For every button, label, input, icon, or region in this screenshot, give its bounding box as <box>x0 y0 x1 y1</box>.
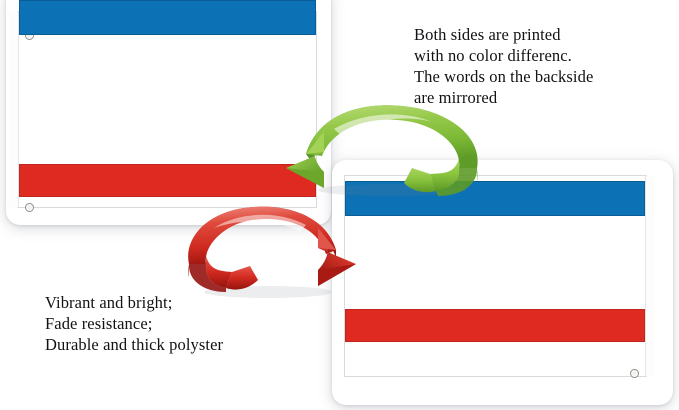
flag-back-hoist-band <box>645 176 655 376</box>
flag-front-card <box>6 0 331 225</box>
flag-back-sheet <box>344 175 647 377</box>
grommet-icon <box>25 203 34 212</box>
flag-back-red-stripe <box>345 309 645 342</box>
green-curved-arrow-icon <box>284 96 492 200</box>
flag-front-hoist-band <box>9 12 19 207</box>
flag-front-blue-stripe <box>19 0 316 35</box>
grommet-icon <box>630 369 639 378</box>
product-features-text: Vibrant and bright; Fade resistance; Dur… <box>45 292 310 355</box>
flag-front-red-stripe <box>19 164 316 197</box>
red-curved-arrow-icon <box>186 200 358 304</box>
flag-front-sheet <box>17 11 317 208</box>
product-infographic-stage: Both sides are printed with no color dif… <box>0 0 679 410</box>
both-sides-printed-text: Both sides are printed with no color dif… <box>414 24 664 108</box>
